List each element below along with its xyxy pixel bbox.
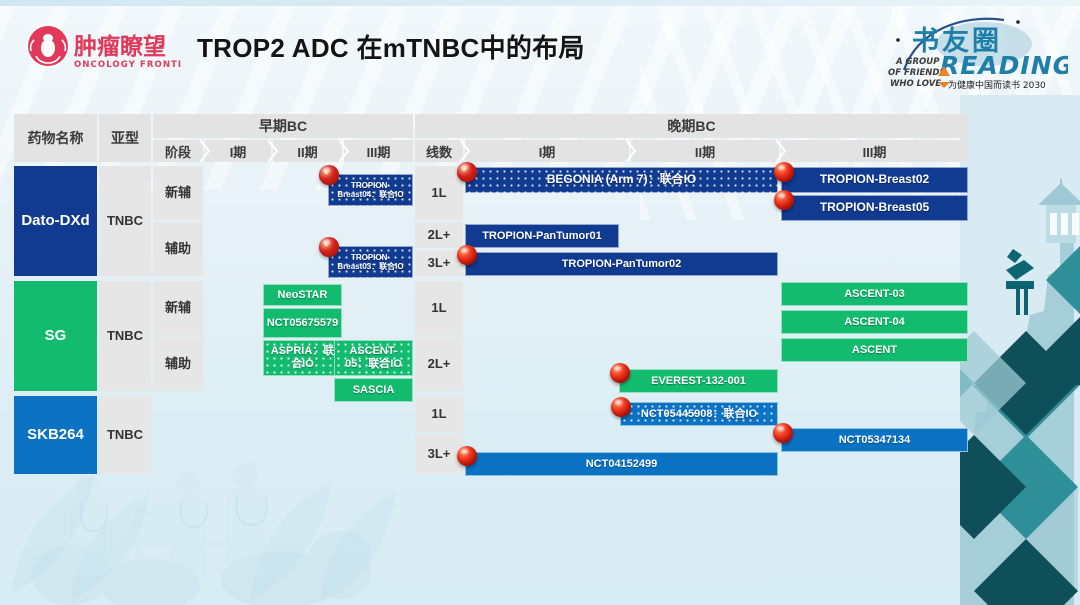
trial-bar-sascia-label: SASCIA <box>349 384 399 397</box>
trial-bar-ascent-label: ASCENT <box>848 344 901 357</box>
page-title: TROP2 ADC 在mTNBC中的布局 <box>197 28 585 65</box>
china-marker-icon <box>774 190 794 210</box>
group-header-advanced-bc: 晚期BC <box>415 114 968 138</box>
row-subtype-sg-label: TNBC <box>107 328 143 344</box>
trial-bar-nct05347134[interactable]: NCT05347134 <box>781 428 968 452</box>
china-marker-icon <box>774 162 794 182</box>
group-header-early-bc: 早期BC <box>153 114 413 138</box>
header-subtype-label: 亚型 <box>111 130 139 146</box>
stage-sg-adjuvant: 辅助 <box>153 337 203 391</box>
line-sg-2l: 2L+ <box>415 337 463 391</box>
header-early-phase-2[interactable]: II期 <box>273 140 342 162</box>
line-dato-dxd-3l: 3L+ <box>415 250 463 276</box>
chevron-right-icon <box>776 140 786 162</box>
stage-dato-dxd-neoadjuvant-label: 新辅 <box>165 185 191 201</box>
chevron-right-icon <box>268 140 278 162</box>
header-adv-phase-2[interactable]: II期 <box>631 140 779 162</box>
trial-landscape-table: 药物名称 亚型 早期BC 晚期BC 阶段 I期 II期 III期 线数 I期 I… <box>14 114 968 484</box>
trial-bar-tropion-breast05-label: TROPION-Breast05 <box>816 201 933 215</box>
line-dato-dxd-1l: 1L <box>415 166 463 220</box>
header-adv-phase-1[interactable]: I期 <box>465 140 629 162</box>
row-subtype-sg: TNBC <box>99 281 151 391</box>
header-early-phase-1-label: I期 <box>230 142 247 161</box>
line-skb264-1l: 1L <box>415 396 463 432</box>
group-header-early-bc-label: 早期BC <box>259 116 307 136</box>
row-drug-skb264-label: SKB264 <box>27 426 84 444</box>
trial-bar-ascent-05[interactable]: ASCENT-05：联合IO <box>334 340 413 376</box>
line-sg-1l: 1L <box>415 281 463 335</box>
stage-dato-dxd-neoadjuvant: 新辅 <box>153 166 203 220</box>
header-stage-label: 阶段 <box>165 142 191 161</box>
group-header-advanced-bc-label: 晚期BC <box>667 116 715 136</box>
row-subtype-skb264-label: TNBC <box>107 427 143 443</box>
row-drug-sg-label: SG <box>45 327 67 345</box>
header-adv-phase-3-label: III期 <box>863 142 887 161</box>
china-marker-icon <box>457 446 477 466</box>
reading-logo: 书友圈 READING A GROUP OF FRIENDS WHO LOVE … <box>858 8 1068 100</box>
line-skb264-3l-label: 3L+ <box>428 446 451 462</box>
trial-bar-aspria-label: ASPRIA：联合IO <box>264 345 341 370</box>
trial-bar-ascent-03[interactable]: ASCENT-03 <box>781 282 968 306</box>
row-drug-skb264: SKB264 <box>14 396 97 474</box>
svg-text:A GROUP: A GROUP <box>895 57 940 67</box>
trial-bar-tropion-breast03[interactable]: TROPION-Breast03：联合IO <box>328 246 413 278</box>
header-early-phase-3-label: III期 <box>367 142 391 161</box>
stage-sg-adjuvant-label: 辅助 <box>165 356 191 372</box>
line-sg-1l-label: 1L <box>431 300 446 316</box>
chevron-right-icon <box>460 140 470 162</box>
trial-bar-everest-132-001[interactable]: EVEREST-132-001 <box>619 369 778 393</box>
line-skb264-3l: 3L+ <box>415 434 463 474</box>
stage-dato-dxd-adjuvant-label: 辅助 <box>165 241 191 257</box>
svg-text:READING: READING <box>940 51 1068 80</box>
trial-bar-ascent[interactable]: ASCENT <box>781 338 968 362</box>
stage-sg-neoadjuvant-label: 新辅 <box>165 300 191 316</box>
row-subtype-dato-dxd: TNBC <box>99 166 151 276</box>
line-dato-dxd-2l-label: 2L+ <box>428 227 451 243</box>
stage-sg-neoadjuvant: 新辅 <box>153 281 203 335</box>
header-line-label: 线数 <box>426 142 452 161</box>
header-adv-phase-3[interactable]: III期 <box>781 140 968 162</box>
trial-bar-aspria[interactable]: ASPRIA：联合IO <box>263 340 342 376</box>
stage-dato-dxd-adjuvant: 辅助 <box>153 222 203 276</box>
header-drug-name-label: 药物名称 <box>28 130 84 146</box>
trial-bar-neostar-label: NeoSTAR <box>274 289 332 302</box>
line-sg-2l-label: 2L+ <box>428 356 451 372</box>
trial-bar-nct05445908-label: NCT05445908：联合IO <box>637 408 761 421</box>
svg-text:为健康中国而读书 2030: 为健康中国而读书 2030 <box>948 79 1046 91</box>
header-adv-phase-1-label: I期 <box>539 142 556 161</box>
header-subtype: 亚型 <box>99 114 151 162</box>
line-dato-dxd-1l-label: 1L <box>431 185 446 201</box>
line-dato-dxd-3l-label: 3L+ <box>428 255 451 271</box>
architecture-decoration <box>960 95 1080 605</box>
row-subtype-dato-dxd-label: TNBC <box>107 213 143 229</box>
trial-bar-tropion-pantumor01-label: TROPION-PanTumor01 <box>478 230 606 243</box>
chevron-right-icon <box>200 140 210 162</box>
header-line: 线数 <box>415 140 463 162</box>
china-marker-icon <box>773 423 793 443</box>
top-accent-bar <box>0 0 1080 6</box>
svg-text:WHO LOVE: WHO LOVE <box>890 79 941 89</box>
trial-bar-ascent-04[interactable]: ASCENT-04 <box>781 310 968 334</box>
brand-logo: 肿瘤瞭望 ONCOLOGY FRONTIER <box>22 22 182 74</box>
trial-bar-tropion-breast04[interactable]: TROPION-Breast04：联合IO <box>328 174 413 206</box>
trial-bar-tropion-pantumor01[interactable]: TROPION-PanTumor01 <box>465 224 619 248</box>
header-drug-name: 药物名称 <box>14 114 97 162</box>
header-early-phase-1[interactable]: I期 <box>205 140 271 162</box>
trial-bar-tropion-breast02-label: TROPION-Breast02 <box>816 173 933 187</box>
trial-bar-tropion-pantumor02[interactable]: TROPION-PanTumor02 <box>465 252 778 276</box>
china-marker-icon <box>457 245 477 265</box>
svg-text:OF FRIENDS: OF FRIENDS <box>888 68 946 78</box>
trial-bar-nct04152499-label: NCT04152499 <box>582 458 662 471</box>
trial-bar-tropion-breast05[interactable]: TROPION-Breast05 <box>781 195 968 221</box>
header-early-phase-2-label: II期 <box>297 142 317 161</box>
trial-bar-tropion-breast04-label: TROPION-Breast04：联合IO <box>329 181 412 199</box>
trial-bar-nct05347134-label: NCT05347134 <box>835 434 915 447</box>
trial-bar-sascia[interactable]: SASCIA <box>334 378 413 402</box>
row-drug-dato-dxd: Dato-DXd <box>14 166 97 276</box>
svg-text:ONCOLOGY FRONTIER: ONCOLOGY FRONTIER <box>74 60 182 70</box>
trial-bar-everest-132-001-label: EVEREST-132-001 <box>647 375 750 388</box>
china-marker-icon <box>611 397 631 417</box>
chevron-right-icon <box>626 140 636 162</box>
china-marker-icon: ★ <box>319 237 339 257</box>
trial-bar-nct05445908[interactable]: NCT05445908：联合IO <box>620 402 778 426</box>
trial-bar-nct04152499[interactable]: NCT04152499 <box>465 452 778 476</box>
china-marker-icon <box>610 363 630 383</box>
line-skb264-1l-label: 1L <box>431 406 446 422</box>
row-drug-dato-dxd-label: Dato-DXd <box>21 212 89 230</box>
trial-bar-nct05675579-label: NCT05675579 <box>263 317 343 330</box>
chevron-right-icon <box>339 140 349 162</box>
trial-bar-tropion-breast03-label: TROPION-Breast03：联合IO <box>329 253 412 271</box>
row-drug-sg: SG <box>14 281 97 391</box>
trial-bar-begonia-arm7[interactable]: BEGONIA (Arm 7)：联合IO <box>465 167 778 193</box>
header-stage: 阶段 <box>153 140 203 162</box>
trial-bar-tropion-breast02[interactable]: TROPION-Breast02 <box>781 167 968 193</box>
trial-bar-ascent-05-label: ASCENT-05：联合IO <box>335 345 412 370</box>
trial-bar-neostar[interactable]: NeoSTAR <box>263 284 342 306</box>
trial-bar-nct05675579[interactable]: NCT05675579 <box>263 308 342 338</box>
header-adv-phase-2-label: II期 <box>695 142 715 161</box>
trial-bar-ascent-04-label: ASCENT-04 <box>840 316 909 329</box>
line-dato-dxd-2l: 2L+ <box>415 222 463 248</box>
china-marker-icon: ★ <box>319 165 339 185</box>
header-early-phase-3[interactable]: III期 <box>344 140 413 162</box>
trial-bar-ascent-03-label: ASCENT-03 <box>840 288 909 301</box>
svg-text:肿瘤瞭望: 肿瘤瞭望 <box>74 33 166 60</box>
trial-bar-tropion-pantumor02-label: TROPION-PanTumor02 <box>558 258 686 271</box>
china-marker-icon: ★ <box>457 162 477 182</box>
trial-bar-begonia-arm7-label: BEGONIA (Arm 7)：联合IO <box>543 173 701 187</box>
row-subtype-skb264: TNBC <box>99 396 151 474</box>
